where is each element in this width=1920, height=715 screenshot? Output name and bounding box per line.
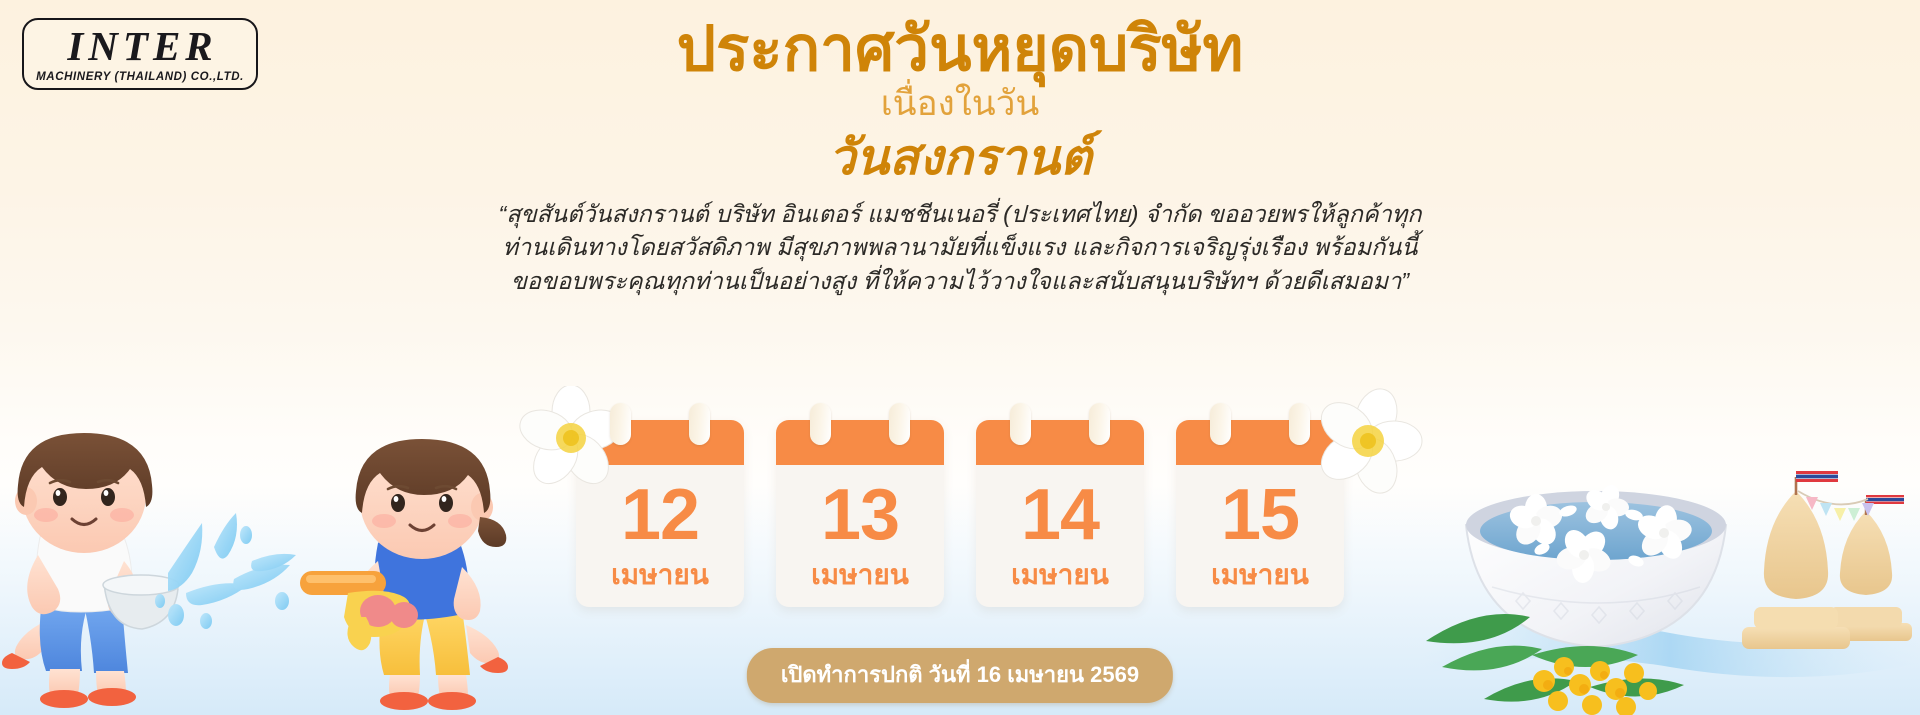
calendar-day: 14 <box>976 465 1144 551</box>
calendar-card-body: 12 เมษายน <box>576 420 744 607</box>
calendar-card: 15 เมษายน <box>1176 420 1344 607</box>
calendar-ring-icon <box>810 403 831 445</box>
calendar-rings <box>976 403 1144 443</box>
calendar-day: 12 <box>576 465 744 551</box>
calendar-ring-icon <box>889 403 910 445</box>
girl-with-water-gun <box>300 439 508 710</box>
calendar-card-body: 15 เมษายน <box>1176 420 1344 607</box>
calendar-day: 15 <box>1176 465 1344 551</box>
festival-name: วันสงกรานต์ <box>828 129 1092 188</box>
thai-flag-icon <box>1796 471 1838 482</box>
heading-group: ประกาศวันหยุดบริษัท เนื่องในวัน วันสงกรา… <box>0 0 1920 298</box>
calendar-month: เมษายน <box>776 551 944 607</box>
calendar-card: 13 เมษายน <box>776 420 944 607</box>
calendar-rings <box>1176 403 1344 443</box>
boy-with-bowl <box>2 433 179 708</box>
calendar-ring-icon <box>1089 403 1110 445</box>
calendar-month: เมษายน <box>576 551 744 607</box>
songkran-holiday-banner: INTER MACHINERY (THAILAND) CO.,LTD. ประก… <box>0 0 1920 715</box>
calendar-day: 13 <box>776 465 944 551</box>
page-subtitle: เนื่องในวัน <box>881 83 1040 125</box>
greeting-quote: “สุขสันต์วันสงกรานต์ บริษัท อินเตอร์ แมช… <box>490 198 1430 298</box>
calendar-card: 12 เมษายน <box>576 420 744 607</box>
calendar-ring-icon <box>1289 403 1310 445</box>
thai-flag-icon <box>1866 495 1904 504</box>
calendar-card: 14 เมษายน <box>976 420 1144 607</box>
water-splash <box>155 513 296 629</box>
calendar-ring-icon <box>1010 403 1031 445</box>
calendar-ring-icon <box>610 403 631 445</box>
calendar-card-body: 14 เมษายน <box>976 420 1144 607</box>
calendar-ring-icon <box>1210 403 1231 445</box>
calendar-rings <box>576 403 744 443</box>
reopen-date-badge: เปิดทำการปกติ วันที่ 16 เมษายน 2569 <box>747 648 1173 703</box>
songkran-bowl-and-pagoda-illustration <box>1420 415 1920 715</box>
calendar-rings <box>776 403 944 443</box>
calendar-month: เมษายน <box>976 551 1144 607</box>
children-playing-water-illustration <box>0 425 520 715</box>
calendar-month: เมษายน <box>1176 551 1344 607</box>
calendar-card-body: 13 เมษายน <box>776 420 944 607</box>
page-title: ประกาศวันหยุดบริษัท <box>677 14 1244 85</box>
calendar-ring-icon <box>689 403 710 445</box>
